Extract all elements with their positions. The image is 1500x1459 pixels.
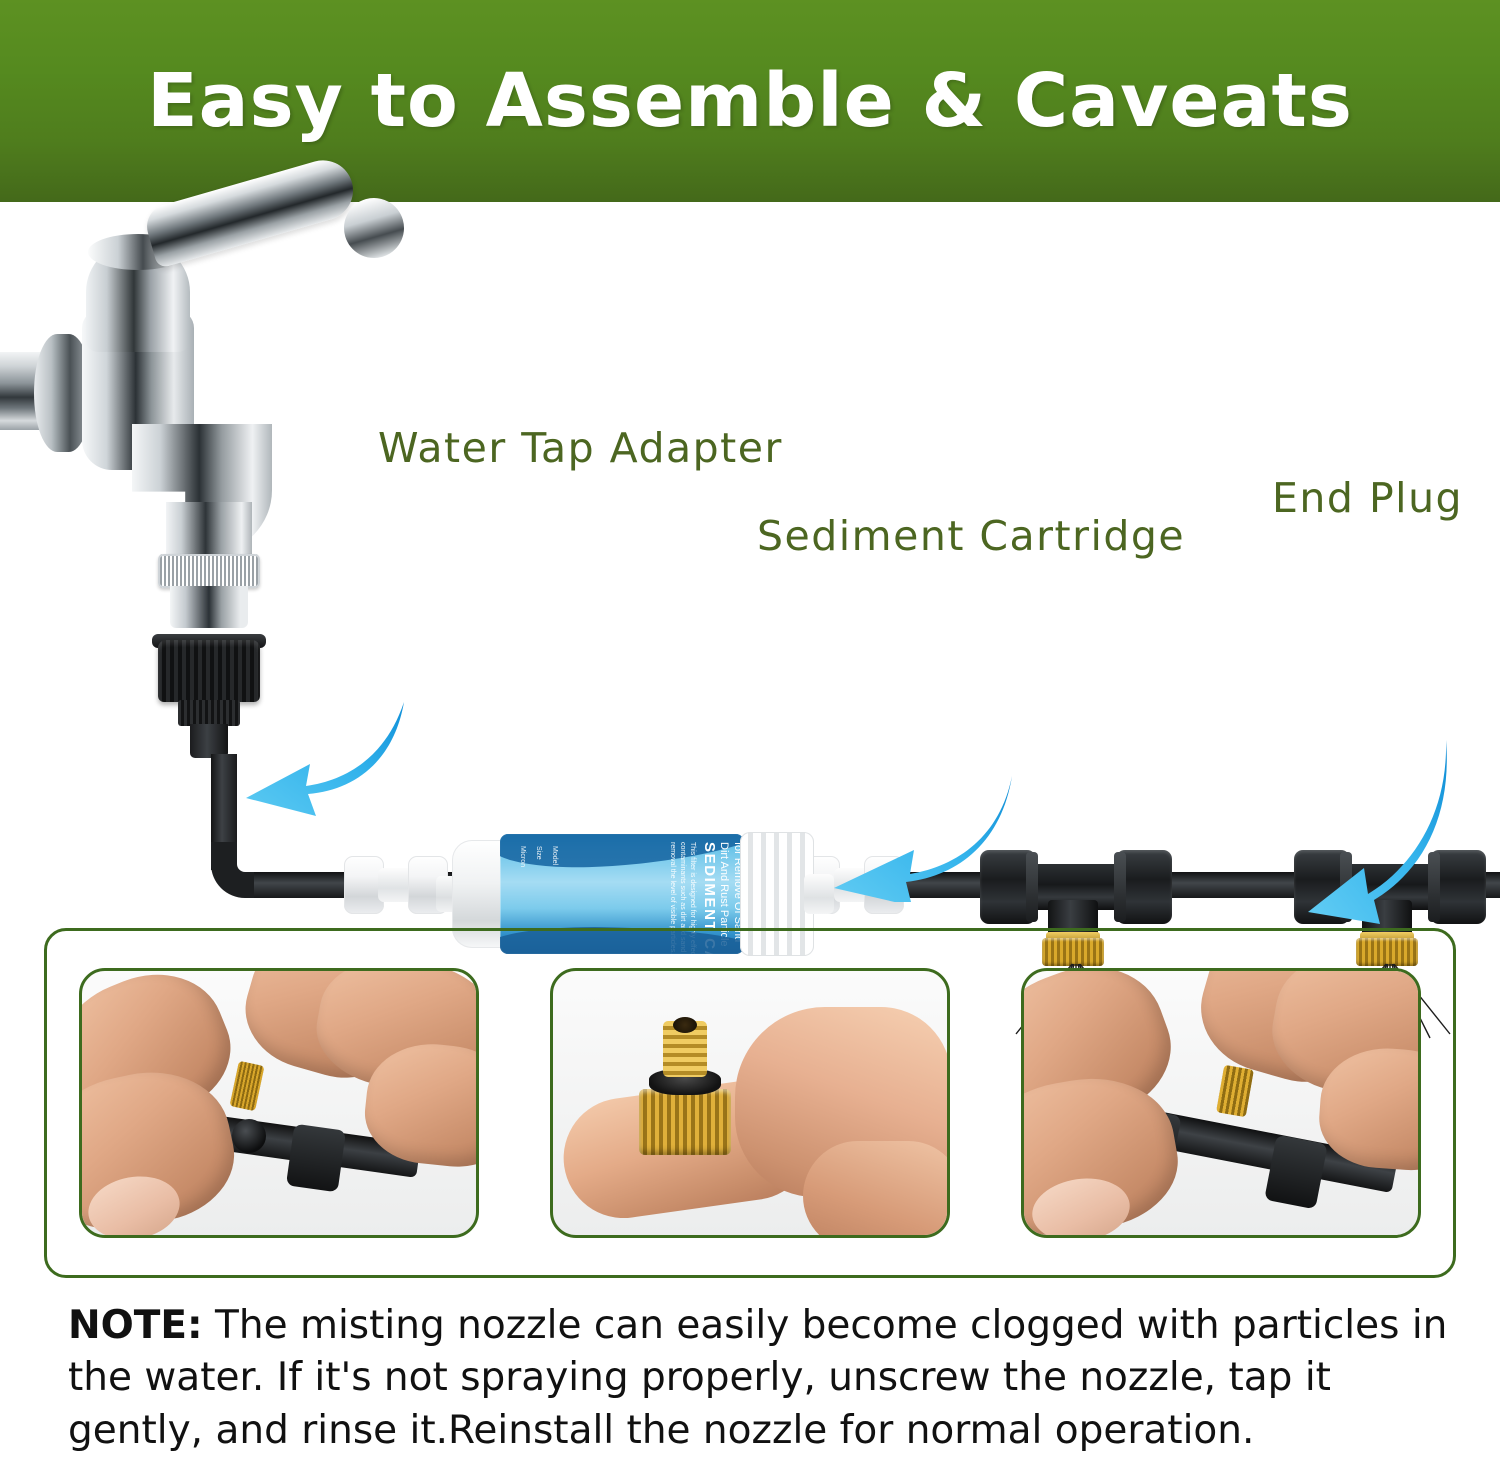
label-water-tap-adapter: Water Tap Adapter	[378, 424, 783, 472]
photo-step-2	[550, 968, 950, 1238]
cartridge-label-spec-1: Model	[551, 846, 558, 865]
cartridge-label-spec-3: Micron	[519, 846, 526, 867]
arrow-to-sediment-cartridge-icon	[826, 770, 1016, 902]
assembly-diagram: SEDIMENT CARTRIDGE for Remove Of Sand Di…	[0, 202, 1500, 912]
faucet-collar-bottom	[170, 586, 248, 628]
tee-ring-right	[1114, 852, 1126, 922]
photo-step-3	[1021, 968, 1421, 1238]
label-end-plug: End Plug	[1272, 474, 1463, 522]
page-header: Easy to Assemble & Caveats	[0, 0, 1500, 202]
nozzle-orifice	[673, 1017, 697, 1033]
photo-panel	[44, 928, 1456, 1278]
page-title: Easy to Assemble & Caveats	[147, 58, 1353, 144]
photo-step-1	[79, 968, 479, 1238]
brass-nozzle-knurled-base	[639, 1089, 731, 1155]
note-body: The misting nozzle can easily become clo…	[68, 1303, 1447, 1453]
tap-adapter	[158, 640, 260, 702]
tee-nut-in-photo	[286, 1124, 346, 1193]
water-faucet-illustration	[0, 202, 322, 622]
brass-nozzle-in-photo	[230, 1061, 265, 1111]
quick-connector-left	[344, 856, 448, 914]
note-text: NOTE: The misting nozzle can easily beco…	[68, 1300, 1448, 1457]
note-prefix: NOTE:	[68, 1303, 203, 1348]
finger	[803, 1141, 950, 1238]
faucet-threaded-collar	[158, 554, 260, 588]
arrow-to-end-plug-icon	[1268, 736, 1454, 926]
cartridge-label-spec-2: Size	[535, 846, 542, 860]
tap-adapter-stem	[190, 724, 228, 758]
arrow-to-tap-adapter-icon	[236, 694, 406, 824]
label-sediment-cartridge: Sediment Cartridge	[757, 512, 1185, 560]
tee-ring-left	[1026, 852, 1038, 922]
faucet-spout-outlet	[166, 502, 252, 562]
tap-adapter-collar	[178, 700, 240, 726]
brass-nozzle-in-photo	[1216, 1065, 1254, 1117]
